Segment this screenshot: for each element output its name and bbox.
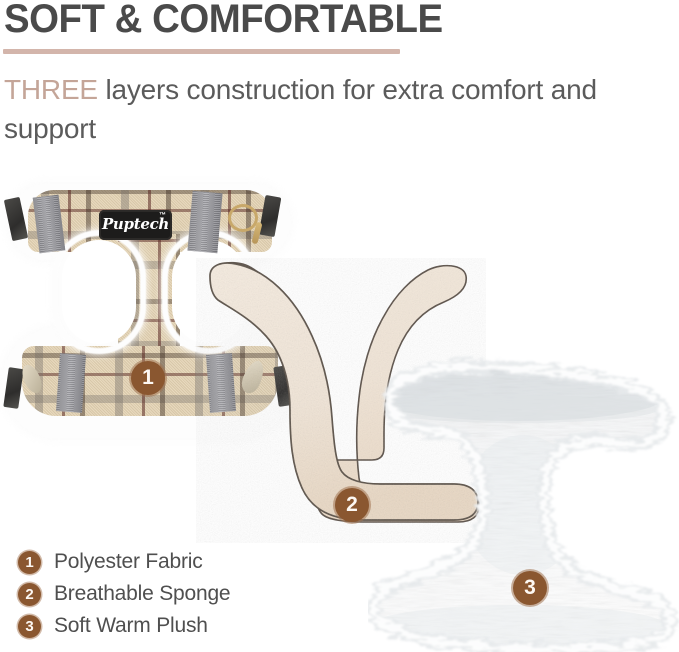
badge-layer-two: 2 bbox=[335, 488, 369, 522]
legend-label-3: Soft Warm Plush bbox=[54, 614, 208, 638]
fur-edge-left-armhole bbox=[58, 236, 140, 348]
legend-item-1: 1 Polyester Fabric bbox=[18, 546, 230, 578]
legend: 1 Polyester Fabric 2 Breathable Sponge 3… bbox=[18, 546, 230, 642]
badge-layer-three: 3 bbox=[513, 571, 547, 605]
plush-shape bbox=[368, 355, 679, 652]
title-accent-rule bbox=[3, 49, 400, 54]
badge-layer-one: 1 bbox=[131, 361, 165, 395]
legend-label-2: Breathable Sponge bbox=[54, 582, 230, 606]
page-title: SOFT & COMFORTABLE bbox=[4, 0, 580, 42]
legend-item-3: 3 Soft Warm Plush bbox=[18, 610, 230, 642]
infographic-page: SOFT & COMFORTABLE THREE layers construc… bbox=[0, 0, 679, 652]
brand-label-patch: Puptech ™ bbox=[99, 210, 172, 240]
layer-three-plush bbox=[368, 355, 679, 652]
d-ring-attachment bbox=[228, 204, 258, 232]
legend-label-1: Polyester Fabric bbox=[54, 550, 203, 574]
legend-number-1: 1 bbox=[18, 551, 41, 574]
page-subtitle: THREE layers construction for extra comf… bbox=[4, 70, 604, 148]
subtitle-accent-word: THREE bbox=[4, 74, 98, 105]
webbing-right-shoulder bbox=[187, 191, 222, 253]
legend-number-3: 3 bbox=[18, 615, 41, 638]
legend-item-2: 2 Breathable Sponge bbox=[18, 578, 230, 610]
trademark-symbol: ™ bbox=[159, 212, 166, 219]
legend-number-2: 2 bbox=[18, 583, 41, 606]
webbing-left-lower bbox=[56, 353, 86, 413]
